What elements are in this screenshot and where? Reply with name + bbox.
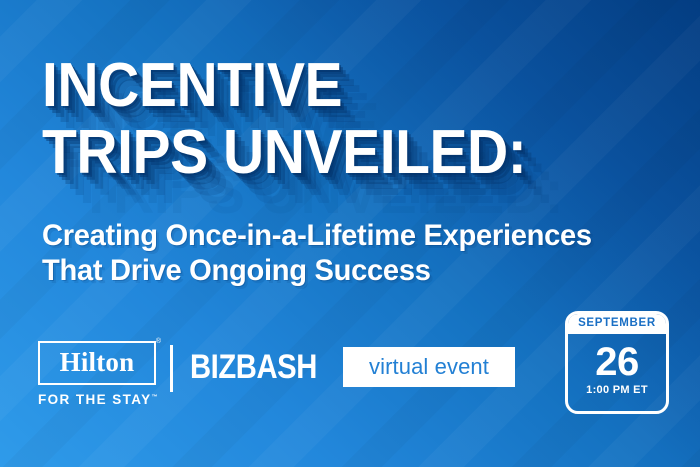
hilton-logo: Hilton ® FOR THE STAY™ xyxy=(38,341,156,407)
hilton-wordmark-text: Hilton xyxy=(60,349,135,378)
headline: INCENTIVE TRIPS UNVEILED: xyxy=(42,56,672,184)
registered-trademark-icon: ® xyxy=(156,338,161,345)
banner-footer: Hilton ® FOR THE STAY™ BIZBASH virtual e… xyxy=(0,337,700,467)
headline-line-1: INCENTIVE xyxy=(42,56,622,117)
bizbash-logo: BIZBASH xyxy=(190,350,317,384)
trademark-icon: ™ xyxy=(152,395,158,401)
banner-content: INCENTIVE TRIPS UNVEILED: Creating Once-… xyxy=(0,0,700,467)
logo-divider xyxy=(170,345,173,392)
date-badge-day: 26 xyxy=(595,343,639,381)
virtual-event-label: virtual event xyxy=(369,356,489,378)
event-promo-banner: INCENTIVE TRIPS UNVEILED: Creating Once-… xyxy=(0,0,700,467)
hilton-tagline-text: FOR THE STAY xyxy=(38,392,152,407)
subhead: Creating Once-in-a-Lifetime Experiences … xyxy=(42,218,682,288)
subhead-line-1: Creating Once-in-a-Lifetime Experiences xyxy=(42,218,663,253)
subhead-line-2: That Drive Ongoing Success xyxy=(42,253,663,288)
date-badge-body: 26 1:00 PM ET xyxy=(568,334,666,412)
virtual-event-badge: virtual event xyxy=(343,347,515,387)
hilton-tagline: FOR THE STAY™ xyxy=(38,392,156,407)
date-badge: SEPTEMBER 26 1:00 PM ET xyxy=(565,311,669,414)
date-badge-time: 1:00 PM ET xyxy=(586,385,648,396)
headline-line-2: TRIPS UNVEILED: xyxy=(42,123,622,184)
hilton-wordmark-box: Hilton ® xyxy=(38,341,156,385)
date-badge-month: SEPTEMBER xyxy=(568,314,666,334)
